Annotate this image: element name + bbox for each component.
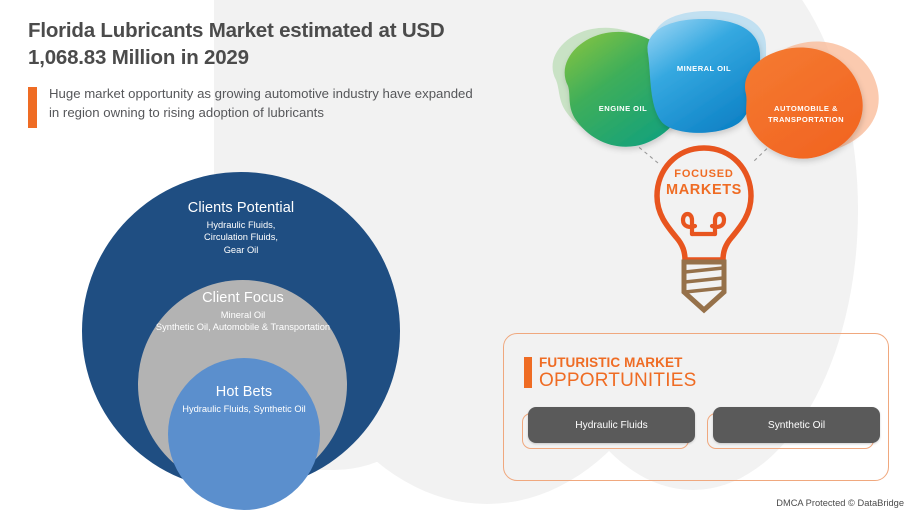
futuristic-market-opportunities-panel: FUTURISTIC MARKET OPPORTUNITIES Hydrauli… xyxy=(503,333,889,481)
circle-middle-title: Client Focus xyxy=(83,290,403,306)
lightbulb-label-line1: FOCUSED xyxy=(645,168,763,180)
opportunity-card-wrapper: Synthetic Oil xyxy=(707,407,874,449)
circle-outer-title: Clients Potential xyxy=(82,200,400,216)
circle-outer-label-group: Clients Potential Hydraulic Fluids, Circ… xyxy=(82,200,400,256)
infographic-canvas: Florida Lubricants Market estimated at U… xyxy=(0,0,920,517)
subtitle-text: Huge market opportunity as growing autom… xyxy=(49,85,478,122)
panel-heading-row: FUTURISTIC MARKET OPPORTUNITIES xyxy=(524,356,696,390)
footer-credit: DMCA Protected © DataBridge xyxy=(776,498,904,508)
circle-inner-title: Hot Bets xyxy=(118,384,370,400)
blob-label-mineral-oil: MINERAL OIL xyxy=(648,64,760,75)
blob-mineral-oil[interactable] xyxy=(648,19,761,133)
circle-middle-subtitle: Mineral Oil Synthetic Oil, Automobile & … xyxy=(83,309,403,334)
panel-heading-line2: OPPORTUNITIES xyxy=(539,371,696,391)
accent-bar xyxy=(524,357,532,388)
blob-label-engine-oil: ENGINE OIL xyxy=(568,104,678,115)
page-title: Florida Lubricants Market estimated at U… xyxy=(28,17,478,71)
lightbulb-focused-markets[interactable]: FOCUSED MARKETS xyxy=(645,140,763,320)
bulb-filament-icon xyxy=(683,214,724,234)
circle-hot-bets[interactable]: Hot Bets Hydraulic Fluids, Synthetic Oil xyxy=(168,358,320,510)
opportunity-cards-list: Hydraulic Fluids Synthetic Oil xyxy=(522,407,874,449)
opportunity-card-hydraulic-fluids[interactable]: Hydraulic Fluids xyxy=(528,407,695,443)
subtitle-row: Huge market opportunity as growing autom… xyxy=(28,85,478,128)
circle-inner-label-group: Hot Bets Hydraulic Fluids, Synthetic Oil xyxy=(118,384,370,415)
circle-inner-subtitle: Hydraulic Fluids, Synthetic Oil xyxy=(118,403,370,415)
concentric-circles-diagram: Clients Potential Hydraulic Fluids, Circ… xyxy=(82,172,402,492)
bulb-glass-icon xyxy=(657,148,751,260)
opportunity-card-synthetic-oil[interactable]: Synthetic Oil xyxy=(713,407,880,443)
circle-outer-subtitle: Hydraulic Fluids, Circulation Fluids, Ge… xyxy=(82,219,400,256)
header: Florida Lubricants Market estimated at U… xyxy=(28,17,478,128)
accent-bar xyxy=(28,87,37,128)
panel-heading-line1: FUTURISTIC MARKET xyxy=(539,356,696,370)
opportunity-card-wrapper: Hydraulic Fluids xyxy=(522,407,689,449)
blob-label-automobile-transportation: AUTOMOBILE &TRANSPORTATION xyxy=(748,104,864,126)
bulb-base-icon xyxy=(684,262,724,310)
lightbulb-label-line2: MARKETS xyxy=(645,182,763,198)
circle-middle-label-group: Client Focus Mineral Oil Synthetic Oil, … xyxy=(83,290,403,334)
panel-heading-text: FUTURISTIC MARKET OPPORTUNITIES xyxy=(539,356,696,390)
